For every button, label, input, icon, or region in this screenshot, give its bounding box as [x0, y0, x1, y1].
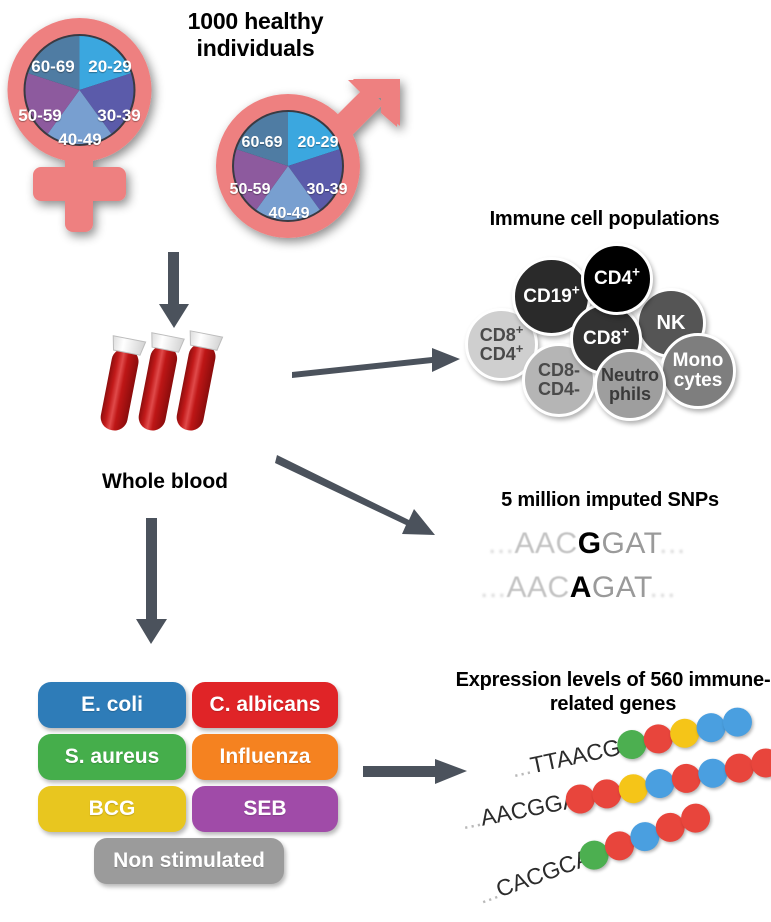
strand-lead-dots-middle: ...: [459, 805, 483, 834]
snp-sequence-row-a: ...AACAGAT...: [480, 571, 676, 605]
arrow-blood-to-immune: [290, 340, 462, 380]
male-symbol-icon: [205, 75, 420, 250]
female-symbol-icon: [8, 12, 208, 247]
bead-blue: [696, 756, 730, 790]
whole-blood-label: Whole blood: [80, 470, 250, 494]
stimulation-conditions-grid: E. coli C. albicans S. aureus Influenza …: [38, 682, 338, 887]
snp-trail-dots-g: ...: [659, 527, 686, 560]
female-symbol-chart: 20-29 30-39 40-49 50-59 60-69: [8, 12, 208, 247]
snp-trail-dots-a: ...: [650, 571, 677, 604]
male-age-pie: [234, 112, 342, 220]
immune-cell-neutrophils[interactable]: Neutrophils: [594, 349, 666, 421]
cell-label-cd4-positive: CD4+: [594, 269, 640, 289]
snp-suffix-g: GAT: [602, 527, 660, 560]
snp-sequence-row-g: ...AACGGAT...: [488, 527, 686, 561]
immune-cell-cd4-positive[interactable]: CD4+: [581, 243, 653, 315]
immune-cell-monocytes[interactable]: Monocytes: [660, 333, 736, 409]
snp-prefix-a: AAC: [507, 571, 570, 604]
bead-red: [590, 777, 624, 811]
stimulation-label-c-albicans: C. albicans: [210, 693, 321, 717]
arrow-cohort-to-blood: [155, 252, 195, 330]
cell-label-cd8-positive: CD8+: [583, 329, 629, 349]
bead-blue: [720, 705, 754, 739]
snp-variant-a: A: [570, 571, 592, 604]
blood-tubes-icon: [96, 330, 231, 450]
bead-yellow: [616, 772, 650, 806]
stimulation-label-s-aureus: S. aureus: [65, 745, 160, 769]
bead-red: [722, 751, 756, 785]
stimulation-box-seb[interactable]: SEB: [192, 786, 338, 832]
snp-variant-g: G: [578, 527, 602, 560]
female-age-pie: [26, 36, 134, 144]
stimulation-box-bcg[interactable]: BCG: [38, 786, 186, 832]
cell-label-cd8-cd4-double-positive: CD8+CD4+: [480, 326, 524, 364]
stimulation-box-s-aureus[interactable]: S. aureus: [38, 734, 186, 780]
arrow-blood-to-stimulation: [133, 518, 173, 646]
figure-canvas: 1000 healthy individuals: [0, 0, 771, 922]
cell-label-nk: NK: [657, 313, 686, 334]
cell-label-cd8-cd4-double-negative: CD8-CD4-: [538, 361, 580, 399]
stimulation-label-seb: SEB: [243, 797, 286, 821]
stimulation-label-influenza: Influenza: [219, 745, 310, 769]
stimulation-box-c-albicans[interactable]: C. albicans: [192, 682, 338, 728]
stimulation-label-e-coli: E. coli: [81, 693, 143, 717]
stimulation-label-non-stimulated: Non stimulated: [113, 849, 265, 873]
stimulation-box-influenza[interactable]: Influenza: [192, 734, 338, 780]
immune-cell-cluster: CD8+CD4+ CD19+ CD4+ NK CD8+ CD8-CD4- Neu…: [460, 235, 760, 420]
immune-section-title: Immune cell populations: [438, 208, 771, 232]
male-symbol-chart: 20-29 30-39 40-49 50-59 60-69: [205, 75, 420, 250]
stimulation-label-bcg: BCG: [89, 797, 136, 821]
snp-lead-dots-g: ...: [488, 527, 515, 560]
snp-lead-dots-a: ...: [480, 571, 507, 604]
snp-section-title: 5 million imputed SNPs: [450, 489, 770, 513]
snp-sequence-block: ...AACGGAT... ...AACAGAT...: [470, 527, 760, 622]
cell-label-monocytes: Monocytes: [673, 351, 724, 391]
bead-red: [669, 761, 703, 795]
stimulation-box-non-stimulated[interactable]: Non stimulated: [94, 838, 284, 884]
strand-lead-dots-bottom: ...: [474, 878, 501, 909]
bead-blue: [643, 767, 677, 801]
strand-lead-dots-top: ...: [509, 753, 533, 782]
cell-label-cd19-positive: CD19+: [523, 287, 580, 307]
snp-prefix-g: AAC: [515, 527, 578, 560]
arrow-blood-to-snps: [275, 453, 443, 543]
cell-label-neutrophils: Neutrophils: [601, 366, 659, 404]
snp-suffix-a: GAT: [592, 571, 650, 604]
blood-tubes-illustration: [96, 330, 231, 450]
stimulation-box-e-coli[interactable]: E. coli: [38, 682, 186, 728]
expression-strands-block: ...TTAACGG ...AACGGAT: [455, 735, 771, 915]
